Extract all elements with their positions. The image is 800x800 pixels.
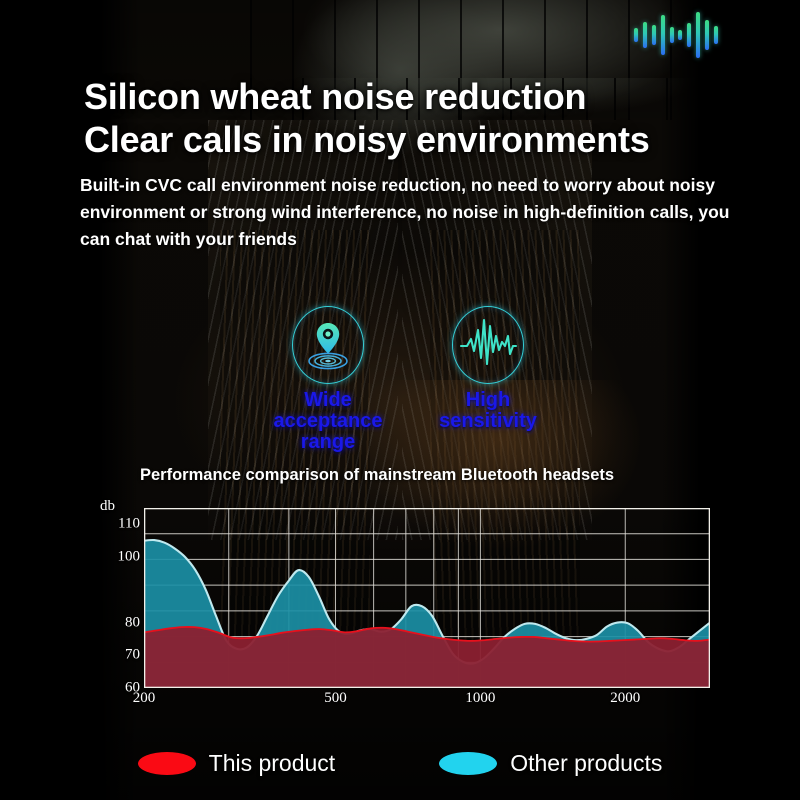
y-axis-tick: 70 xyxy=(100,647,140,664)
equalizer-bar xyxy=(714,26,718,44)
x-axis-tick: 500 xyxy=(324,690,347,707)
performance-chart: db 110100807060 20050010002000 xyxy=(100,498,710,720)
legend-item: Other products xyxy=(439,750,662,777)
x-axis-tick: 200 xyxy=(133,690,156,707)
headline-line-1: Silicon wheat noise reduction xyxy=(84,76,586,118)
equalizer-bar xyxy=(687,23,691,47)
equalizer-bar xyxy=(678,30,682,40)
feature-label: High sensitivity xyxy=(418,390,558,432)
equalizer-bar xyxy=(661,15,665,55)
headline-line-2: Clear calls in noisy environments xyxy=(84,119,650,161)
y-axis-tick: 110 xyxy=(100,516,140,533)
feature-label: Wide acceptance range xyxy=(258,390,398,453)
x-axis-tick: 2000 xyxy=(610,690,640,707)
legend-item: This product xyxy=(138,750,336,777)
equalizer-bar xyxy=(634,28,638,42)
legend-label: This product xyxy=(209,750,336,777)
audio-waveform-equalizer-icon xyxy=(634,6,718,64)
equalizer-bar xyxy=(670,27,674,43)
equalizer-bar xyxy=(696,12,700,58)
y-axis-tick: 100 xyxy=(100,549,140,566)
location-pin-ripple-icon xyxy=(292,306,364,384)
promo-banner: Silicon wheat noise reduction Clear call… xyxy=(0,0,800,800)
equalizer-bar xyxy=(705,20,709,50)
subtitle-paragraph: Built-in CVC call environment noise redu… xyxy=(80,172,740,253)
feature-high-sensitivity: High sensitivity xyxy=(418,306,558,432)
legend-swatch xyxy=(439,752,497,775)
legend-label: Other products xyxy=(510,750,662,777)
chart-legend: This productOther products xyxy=(0,750,800,777)
equalizer-bar xyxy=(643,22,647,48)
legend-swatch xyxy=(138,752,196,775)
chart-plot-area xyxy=(144,508,710,688)
y-axis-ticks: 110100807060 xyxy=(96,498,140,720)
x-axis-tick: 1000 xyxy=(465,690,495,707)
feature-wide-acceptance-range: Wide acceptance range xyxy=(258,306,398,453)
chart-svg xyxy=(144,508,710,688)
equalizer-bar xyxy=(652,25,656,45)
y-axis-tick: 80 xyxy=(100,614,140,631)
chart-title: Performance comparison of mainstream Blu… xyxy=(140,466,614,485)
audio-waveform-icon xyxy=(452,306,524,384)
